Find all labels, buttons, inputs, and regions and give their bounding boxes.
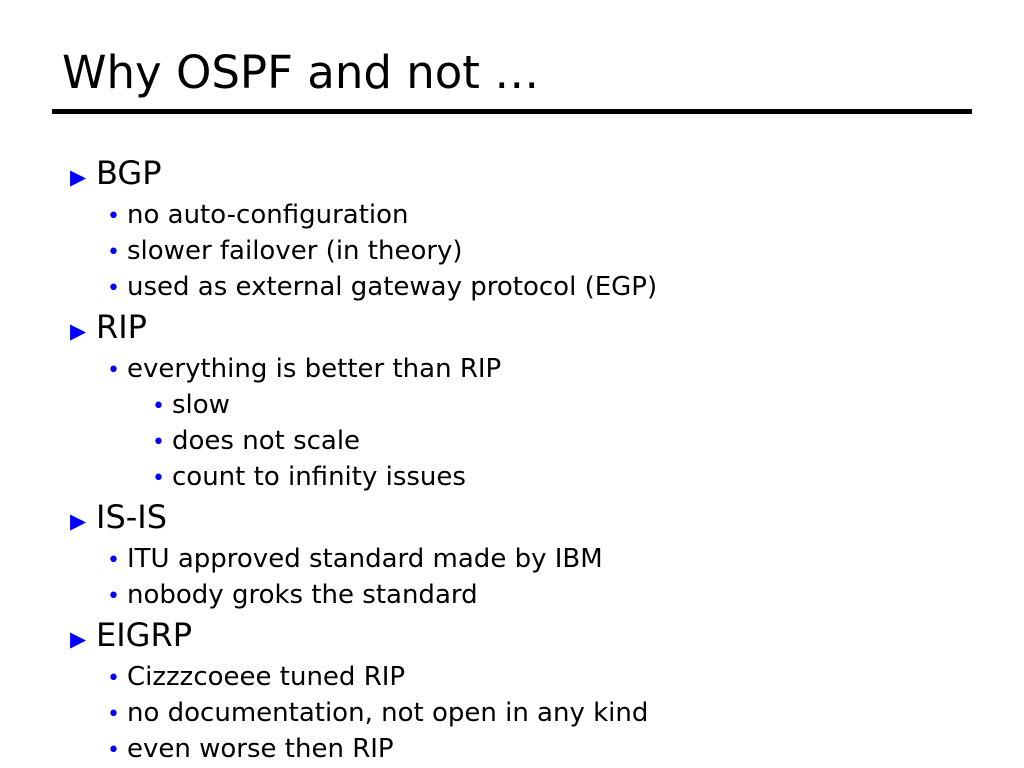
slide: Why OSPF and not … ▶BGP•no auto-configur… [0,0,1024,768]
outline-item-label: even worse then RIP [127,732,394,766]
triangle-bullet-icon: ▶ [70,500,96,542]
outline-item-level2: •nobody groks the standard [52,578,992,614]
outline-item-level3: •does not scale [52,424,992,460]
round-bullet-icon: • [152,426,172,460]
outline-item-label: BGP [96,152,161,194]
outline-item-level3: •slow [52,388,992,424]
outline-item-level2: •used as external gateway protocol (EGP) [52,270,992,306]
round-bullet-icon: • [107,544,127,578]
outline-item-label: no documentation, not open in any kind [127,696,648,730]
round-bullet-icon: • [107,580,127,614]
outline-item-level2: •no documentation, not open in any kind [52,696,992,732]
round-bullet-icon: • [107,236,127,270]
triangle-bullet-icon: ▶ [70,618,96,660]
round-bullet-icon: • [152,390,172,424]
slide-title-block: Why OSPF and not … [52,46,972,114]
round-bullet-icon: • [107,734,127,768]
outline-item-level2: •slower failover (in theory) [52,234,992,270]
outline-item-label: no auto-configuration [127,198,409,232]
round-bullet-icon: • [107,662,127,696]
round-bullet-icon: • [152,462,172,496]
outline-item-label: Cizzzcoeee tuned RIP [127,660,405,694]
outline-item-label: EIGRP [96,614,192,656]
outline-item-level1: ▶IS-IS [52,496,992,542]
outline-item-level2: •ITU approved standard made by IBM [52,542,992,578]
outline-item-level2: •even worse then RIP [52,732,992,768]
slide-outline: ▶BGP•no auto-configuration•slower failov… [52,152,992,768]
outline-item-label: does not scale [172,424,360,458]
triangle-bullet-icon: ▶ [70,310,96,352]
outline-item-level2: •Cizzzcoeee tuned RIP [52,660,992,696]
round-bullet-icon: • [107,272,127,306]
outline-item-label: RIP [96,306,147,348]
outline-item-level2: •no auto-configuration [52,198,992,234]
round-bullet-icon: • [107,354,127,388]
outline-item-label: count to infinity issues [172,460,466,494]
page-title: Why OSPF and not … [52,46,972,100]
outline-item-label: used as external gateway protocol (EGP) [127,270,657,304]
outline-item-level1: ▶RIP [52,306,992,352]
outline-item-label: everything is better than RIP [127,352,501,386]
title-divider [52,109,972,114]
outline-item-level1: ▶BGP [52,152,992,198]
outline-item-level1: ▶EIGRP [52,614,992,660]
outline-item-label: nobody groks the standard [127,578,478,612]
outline-item-label: IS-IS [96,496,167,538]
round-bullet-icon: • [107,200,127,234]
outline-item-level3: •count to infinity issues [52,460,992,496]
triangle-bullet-icon: ▶ [70,156,96,198]
outline-item-label: ITU approved standard made by IBM [127,542,603,576]
outline-item-label: slow [172,388,230,422]
outline-item-label: slower failover (in theory) [127,234,463,268]
round-bullet-icon: • [107,698,127,732]
outline-item-level2: •everything is better than RIP [52,352,992,388]
